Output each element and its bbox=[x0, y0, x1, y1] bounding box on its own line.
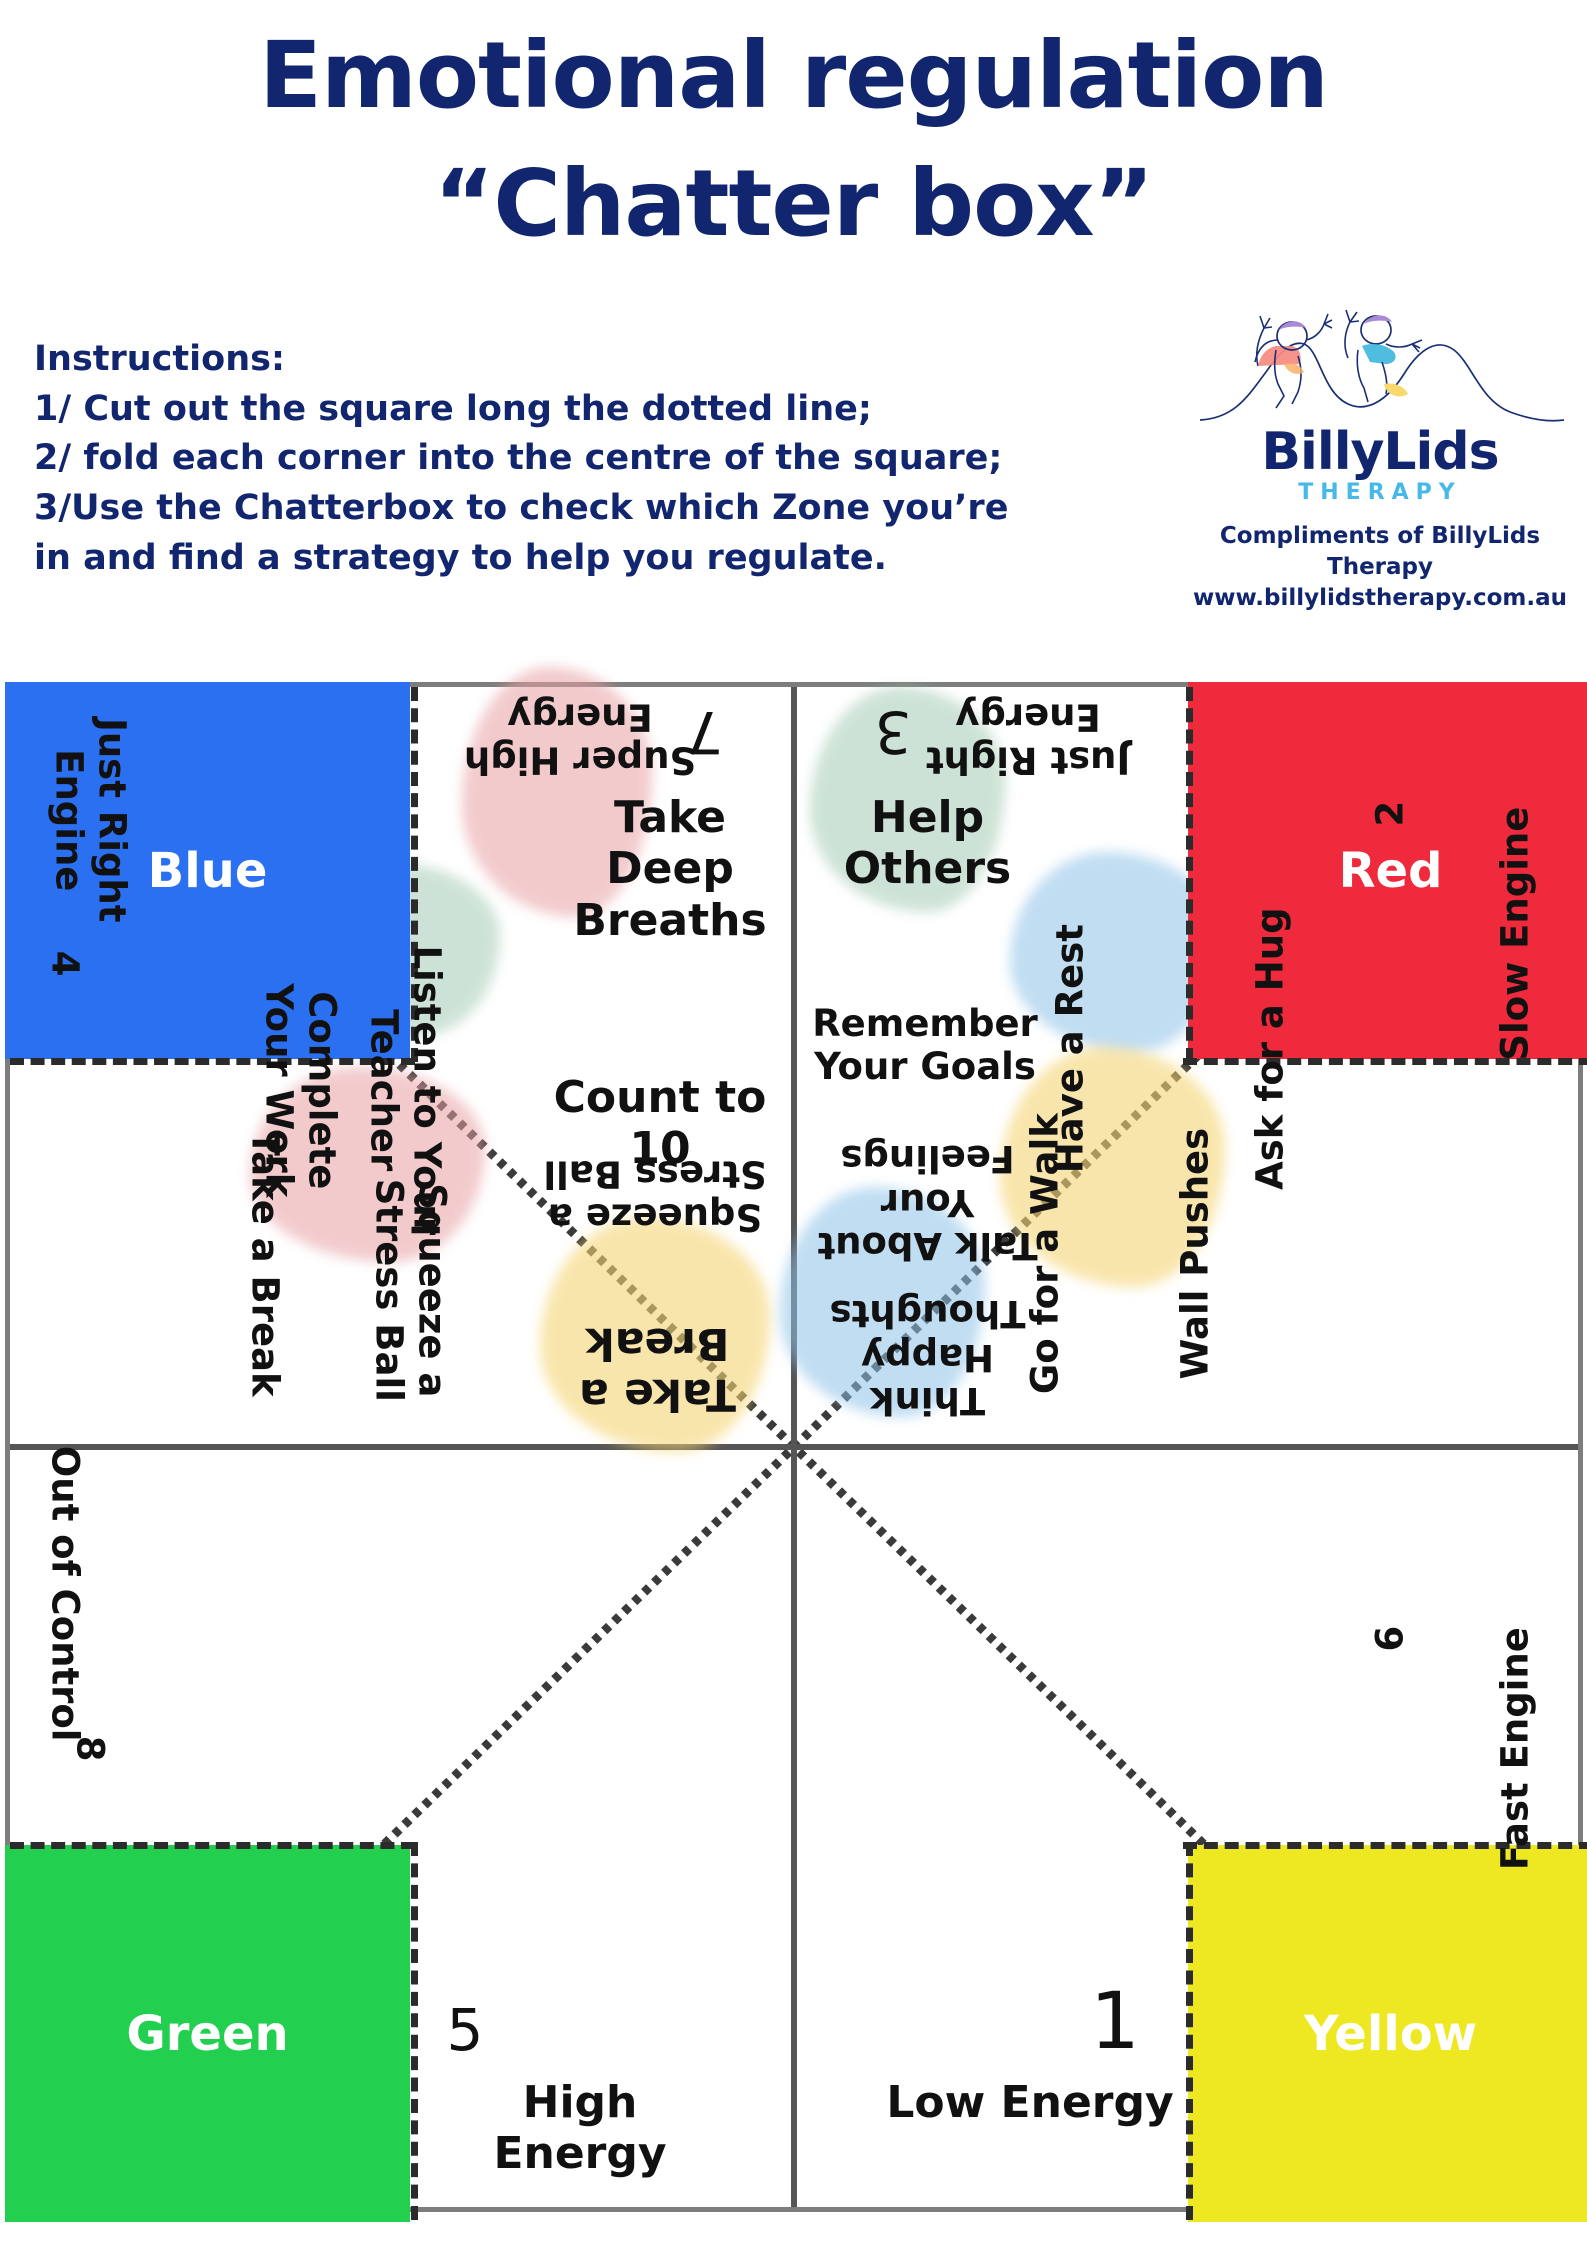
flap-number-6: 6 bbox=[1368, 1489, 1411, 1789]
strategy-take-a-break-2: Take a Break bbox=[545, 1317, 770, 1420]
cut-line-left-bot bbox=[411, 1842, 418, 2220]
page-header: Emotional regulation “Chatter box” Instr… bbox=[0, 0, 1587, 682]
strategy-wall-pushes: Wall Pushes bbox=[1173, 1104, 1216, 1404]
strategy-squeeze-a-stress-ball: Squeeze a Stress Ball bbox=[367, 1140, 454, 1440]
flap-label-just-right-engine-text: Just Right Engine bbox=[47, 670, 134, 970]
logo-tagline: THERAPY bbox=[1180, 480, 1580, 505]
instruction-step-2: 2/ fold each corner into the centre of t… bbox=[34, 434, 1044, 484]
credit-line-1: Compliments of BillyLids bbox=[1180, 521, 1580, 552]
website-text: www.billylidstherapy.com.au bbox=[1180, 583, 1580, 614]
zone-label-yellow: Yellow bbox=[1304, 2006, 1477, 2062]
billylids-logo: BillyLids THERAPY Compliments of BillyLi… bbox=[1180, 300, 1580, 614]
page-title-line1: Emotional regulation bbox=[0, 22, 1587, 129]
credit-block: Compliments of BillyLids Therapy www.bil… bbox=[1180, 521, 1580, 614]
cut-line-right-top bbox=[1186, 687, 1193, 1062]
instructions-heading: Instructions: bbox=[34, 335, 1044, 385]
flap-label-out-of-control: Out of Control bbox=[43, 1444, 86, 1744]
flap-number-1: 1 bbox=[1080, 1977, 1150, 2068]
instruction-step-3a: 3/Use the Chatterbox to check which Zone… bbox=[34, 484, 1044, 534]
strategy-remember-your-goals: Remember Your Goals bbox=[810, 1002, 1040, 1089]
flap-label-fast-engine: Fast Engine bbox=[1493, 1599, 1536, 1899]
flap-number-7: 7 bbox=[670, 697, 740, 765]
instruction-step-1: 1/ Cut out the square long the dotted li… bbox=[34, 385, 1044, 435]
strategy-take-deep-breaths: Take Deep Breaths bbox=[565, 792, 775, 946]
flap-label-low-energy: Low Energy bbox=[880, 2077, 1180, 2128]
zone-label-green: Green bbox=[126, 2006, 288, 2062]
strategy-talk-about-your-feelings: Talk About Your Feelings bbox=[810, 1137, 1045, 1267]
page-title-line2: “Chatter box” bbox=[0, 150, 1587, 257]
flap-label-slow-engine: Slow Engine bbox=[1493, 784, 1536, 1084]
zone-square-green[interactable]: Green bbox=[5, 1845, 410, 2222]
flap-number-5: 5 bbox=[430, 1997, 500, 2065]
flap-number-2: 2 bbox=[1368, 664, 1411, 964]
zone-square-yellow[interactable]: Yellow bbox=[1188, 1845, 1587, 2222]
billylids-logo-art bbox=[1180, 300, 1580, 430]
strategy-ask-for-a-hug: Ask for a Hug bbox=[1248, 899, 1291, 1199]
credit-line-2: Therapy bbox=[1180, 552, 1580, 583]
strategy-think-happy-thoughts: Think Happy Thoughts bbox=[810, 1292, 1045, 1422]
strategy-squeeze-a-stress-ball-2: Squeeze a Stress Ball bbox=[540, 1152, 770, 1239]
instructions-block: Instructions: 1/ Cut out the square long… bbox=[34, 335, 1044, 583]
chatterbox-grid: Blue Red Green Yellow Super High Energy … bbox=[5, 682, 1583, 2212]
strategy-take-a-break: Take a Break bbox=[243, 1114, 286, 1414]
flap-number-3: 3 bbox=[858, 697, 928, 765]
cut-line-right-bot bbox=[1186, 1842, 1193, 2220]
instruction-step-3b: in and find a strategy to help you regul… bbox=[34, 534, 1044, 584]
logo-wordmark: BillyLids bbox=[1180, 426, 1580, 478]
strategy-help-others: Help Others bbox=[820, 792, 1035, 895]
flap-label-high-energy: High Energy bbox=[430, 2077, 730, 2180]
zone-label-blue: Blue bbox=[148, 843, 268, 899]
